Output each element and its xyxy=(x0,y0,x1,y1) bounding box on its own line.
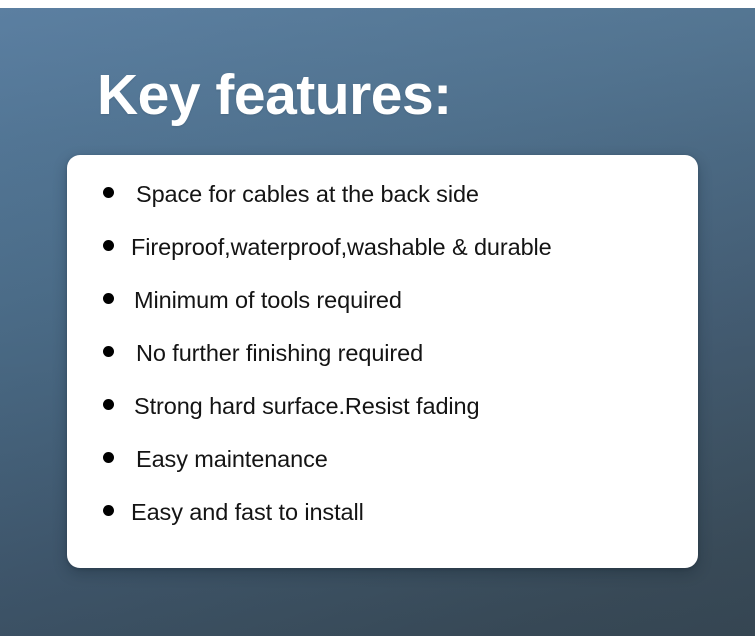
list-item: Fireproof,waterproof,washable & durable xyxy=(67,233,698,286)
page-title: Key features: xyxy=(97,57,452,133)
list-item-label: Easy and fast to install xyxy=(131,498,364,526)
bullet-icon xyxy=(103,346,114,357)
list-item: Minimum of tools required xyxy=(67,286,698,339)
list-item: Easy and fast to install xyxy=(67,498,698,551)
feature-list: Space for cables at the back side Firepr… xyxy=(67,155,698,551)
bullet-icon xyxy=(103,293,114,304)
list-item-label: No further finishing required xyxy=(136,339,423,367)
bullet-icon xyxy=(103,505,114,516)
list-item-label: Strong hard surface.Resist fading xyxy=(134,392,479,420)
list-item-label: Fireproof,waterproof,washable & durable xyxy=(131,233,552,261)
list-item: Space for cables at the back side xyxy=(67,180,698,233)
list-item-label: Easy maintenance xyxy=(136,445,328,473)
list-item: Strong hard surface.Resist fading xyxy=(67,392,698,445)
bullet-icon xyxy=(103,240,114,251)
bullet-icon xyxy=(103,399,114,410)
list-item: No further finishing required xyxy=(67,339,698,392)
list-item: Easy maintenance xyxy=(67,445,698,498)
features-card: Space for cables at the back side Firepr… xyxy=(67,155,698,568)
bullet-icon xyxy=(103,452,114,463)
list-item-label: Space for cables at the back side xyxy=(136,180,479,208)
bullet-icon xyxy=(103,187,114,198)
list-item-label: Minimum of tools required xyxy=(134,286,402,314)
slide-canvas: Key features: Space for cables at the ba… xyxy=(0,0,755,636)
